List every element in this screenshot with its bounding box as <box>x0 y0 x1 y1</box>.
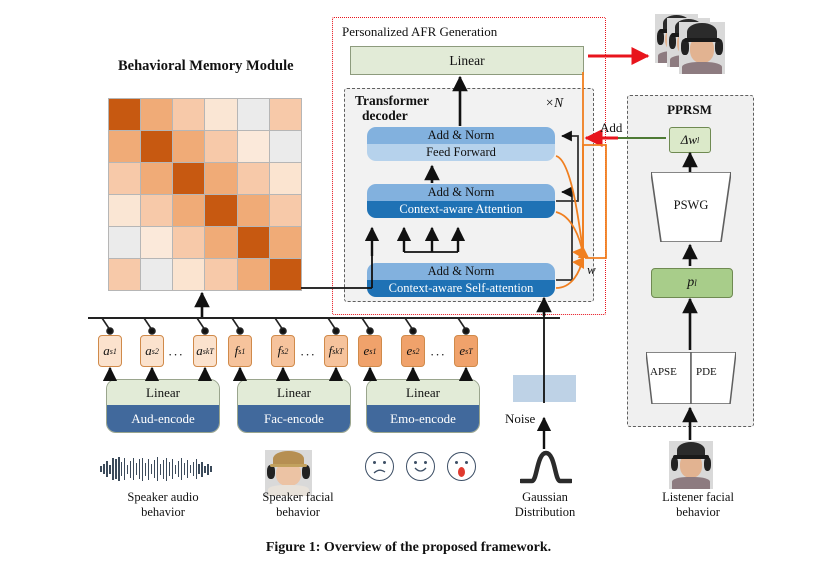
heatmap-cell-1-4 <box>238 131 269 162</box>
add-norm-label: Add & Norm <box>367 263 555 280</box>
heatmap-cell-5-4 <box>238 259 269 290</box>
aud-encode-label: Aud-encode <box>107 405 219 432</box>
token-sub: 2 <box>284 347 288 356</box>
caption-line1: Gaussian <box>487 490 603 505</box>
caption-line1: Listener facial <box>640 490 756 505</box>
emo-encode-block: Linear Emo-encode <box>366 379 480 433</box>
ellipsis-emotion: ··· <box>430 347 446 363</box>
caption-line2: Distribution <box>487 505 603 520</box>
token-emotion-1: es1 <box>358 335 382 367</box>
waveform-bar <box>115 459 117 479</box>
context-aware-attention-label: Context-aware Attention <box>367 201 555 218</box>
caption-line2: behavior <box>230 505 366 520</box>
waveform-bar <box>184 463 186 475</box>
waveform-bar <box>163 460 165 479</box>
fac-encode-block: Linear Fac-encode <box>237 379 351 433</box>
heatmap-cell-0-4 <box>238 99 269 130</box>
add-norm-label: Add & Norm <box>367 127 555 144</box>
heatmap-cell-3-4 <box>238 195 269 226</box>
heatmap-cell-3-0 <box>109 195 140 226</box>
waveform-bar <box>112 458 114 480</box>
token-sub: 1 <box>113 347 117 356</box>
pprsm-title: PPRSM <box>627 102 752 118</box>
linear-label: Linear <box>107 380 219 405</box>
delta-w-symbol: Δw <box>681 132 697 148</box>
fac-encode-label: Fac-encode <box>238 405 350 432</box>
delta-w-superscript: l <box>697 136 699 145</box>
heatmap-cell-0-5 <box>270 99 301 130</box>
apse-label: APSE <box>650 366 677 378</box>
delta-w-block: Δwl <box>669 127 711 153</box>
heatmap-cell-3-2 <box>173 195 204 226</box>
waveform-bar <box>127 465 129 474</box>
decoder-repeat-label: ×N <box>545 95 563 111</box>
caption-line1: Speaker audio <box>96 490 230 505</box>
emoji-sad-icon <box>365 452 394 481</box>
heatmap-cell-0-2 <box>173 99 204 130</box>
token-sub: kT <box>206 347 214 356</box>
gaussian-distribution-caption: Gaussian Distribution <box>487 490 603 520</box>
heatmap-cell-1-3 <box>205 131 236 162</box>
personalized-afr-generation-label: Personalized AFR Generation <box>342 24 497 40</box>
waveform-bar <box>198 464 200 474</box>
waveform-bar <box>136 463 138 475</box>
waveform-bar <box>160 464 162 475</box>
heatmap-cell-4-2 <box>173 227 204 258</box>
transformer-decoder-title-line2: decoder <box>362 108 408 124</box>
waveform-bar <box>103 464 105 474</box>
apse-pde-trapezoids: APSE PDE <box>646 352 736 404</box>
decoder-block-context-aware-self-attention: Add & Norm Context-aware Self-attention <box>367 263 555 297</box>
waveform-bar <box>151 464 153 474</box>
heatmap-cell-5-0 <box>109 259 140 290</box>
emoji-surprised-icon <box>447 452 476 481</box>
linear-label: Linear <box>238 380 350 405</box>
heatmap-cell-1-0 <box>109 131 140 162</box>
heatmap-cell-2-0 <box>109 163 140 194</box>
speaker-audio-caption: Speaker audio behavior <box>96 490 230 520</box>
waveform-bar <box>190 465 192 473</box>
linear-label: Linear <box>367 380 479 405</box>
token-audio-kt: askT <box>193 335 217 367</box>
waveform-bar <box>142 458 144 481</box>
caption-line2: behavior <box>640 505 756 520</box>
audio-waveform-icon <box>100 456 222 482</box>
heatmap-cell-2-5 <box>270 163 301 194</box>
decoder-block-context-aware-attention: Add & Norm Context-aware Attention <box>367 184 555 218</box>
figure-caption: Figure 1: Overview of the proposed frame… <box>0 540 817 556</box>
waveform-bar <box>130 461 132 478</box>
waveform-bar <box>121 462 123 476</box>
heatmap-cell-2-4 <box>238 163 269 194</box>
add-norm-label: Add & Norm <box>367 184 555 201</box>
aud-encode-block: Linear Aud-encode <box>106 379 220 433</box>
waveform-bar <box>124 458 126 480</box>
waveform-bar <box>100 466 102 472</box>
waveform-bar <box>201 462 203 477</box>
gaussian-curve-icon <box>520 450 572 484</box>
heatmap-cell-5-2 <box>173 259 204 290</box>
token-sub: T <box>468 347 472 356</box>
heatmap-cell-2-3 <box>205 163 236 194</box>
feed-forward-label: Feed Forward <box>367 144 555 161</box>
behavior-memory-heatmap <box>108 98 302 291</box>
p-superscript: l <box>694 278 697 288</box>
token-audio-1: as1 <box>98 335 122 367</box>
heatmap-cell-5-5 <box>270 259 301 290</box>
decoder-block-feed-forward: Add & Norm Feed Forward <box>367 127 555 161</box>
token-sub: 2 <box>415 347 419 356</box>
waveform-bar <box>145 463 147 476</box>
p-l-block: pl <box>651 268 733 298</box>
pswg-label: PSWG <box>651 198 731 213</box>
output-frame-1 <box>679 22 725 74</box>
waveform-bar <box>169 462 171 476</box>
waveform-bar <box>172 459 174 479</box>
ellipsis-audio: ··· <box>168 347 184 363</box>
afr-linear-block: Linear <box>350 46 584 75</box>
token-audio-2: as2 <box>140 335 164 367</box>
heatmap-cell-1-1 <box>141 131 172 162</box>
noise-block <box>513 375 576 402</box>
caption-line1: Speaker facial <box>230 490 366 505</box>
p-symbol: p <box>687 275 694 291</box>
waveform-bar <box>210 466 212 472</box>
waveform-bar <box>204 466 206 473</box>
waveform-bar <box>157 457 159 481</box>
emo-encode-label: Emo-encode <box>367 405 479 432</box>
token-emotion-2: es2 <box>401 335 425 367</box>
weight-w-label: w <box>587 262 596 278</box>
noise-label: Noise <box>505 411 535 427</box>
heatmap-cell-0-0 <box>109 99 140 130</box>
heatmap-cell-5-3 <box>205 259 236 290</box>
token-facial-kt: fskT <box>324 335 348 367</box>
token-facial-1: fs1 <box>228 335 252 367</box>
heatmap-cell-4-3 <box>205 227 236 258</box>
waveform-bar <box>196 459 198 479</box>
heatmap-cell-3-1 <box>141 195 172 226</box>
waveform-bar <box>207 464 209 475</box>
token-sub: 1 <box>241 347 245 356</box>
listener-facial-photo <box>669 441 713 489</box>
heatmap-cell-4-4 <box>238 227 269 258</box>
emoji-happy-icon <box>406 452 435 481</box>
token-sub: 1 <box>372 347 376 356</box>
waveform-bar <box>133 458 135 480</box>
caption-line2: behavior <box>96 505 230 520</box>
ellipsis-facial: ··· <box>300 347 316 363</box>
speaker-facial-caption: Speaker facial behavior <box>230 490 366 520</box>
context-aware-self-attention-label: Context-aware Self-attention <box>367 280 555 297</box>
heatmap-cell-4-1 <box>141 227 172 258</box>
heatmap-cell-2-2 <box>173 163 204 194</box>
token-sub: 2 <box>155 347 159 356</box>
waveform-bar <box>154 460 156 478</box>
heatmap-cell-1-5 <box>270 131 301 162</box>
heatmap-cell-0-3 <box>205 99 236 130</box>
heatmap-cell-5-1 <box>141 259 172 290</box>
waveform-bar <box>193 462 195 476</box>
pde-label: PDE <box>696 366 717 378</box>
waveform-bar <box>187 460 189 478</box>
heatmap-cell-4-0 <box>109 227 140 258</box>
token-emotion-t: esT <box>454 335 478 367</box>
waveform-bar <box>118 457 120 481</box>
pswg-trapezoid: PSWG <box>651 172 731 242</box>
waveform-bar <box>166 458 168 481</box>
behavioral-memory-module-title: Behavioral Memory Module <box>118 58 368 75</box>
waveform-bar <box>148 459 150 480</box>
waveform-bar <box>175 465 177 474</box>
heatmap-cell-2-1 <box>141 163 172 194</box>
waveform-bar <box>109 465 111 474</box>
waveform-bar <box>181 458 183 480</box>
heatmap-cell-1-2 <box>173 131 204 162</box>
token-sub: kT <box>335 347 343 356</box>
heatmap-cell-4-5 <box>270 227 301 258</box>
waveform-bar <box>178 461 180 477</box>
heatmap-cell-0-1 <box>141 99 172 130</box>
waveform-bar <box>139 459 141 479</box>
listener-facial-caption: Listener facial behavior <box>640 490 756 520</box>
token-facial-2: fs2 <box>271 335 295 367</box>
transformer-decoder-title-line1: Transformer <box>355 93 429 109</box>
add-label: Add <box>600 120 622 136</box>
heatmap-cell-3-3 <box>205 195 236 226</box>
waveform-bar <box>106 461 108 477</box>
heatmap-cell-3-5 <box>270 195 301 226</box>
